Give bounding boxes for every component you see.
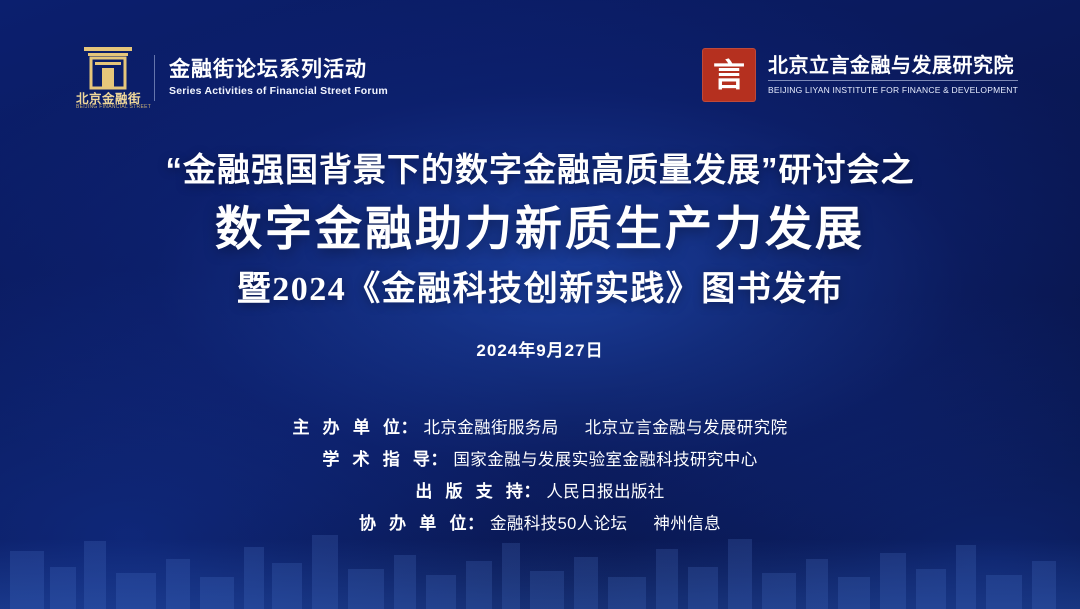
- liyan-institute-logo: 言 北京立言金融与发展研究院 BEIJING LIYAN INSTITUTE F…: [702, 48, 1018, 102]
- credit-label: 主办单位: [292, 412, 400, 444]
- title-block: “金融强国背景下的数字金融高质量发展”研讨会之 数字金融助力新质生产力发展 暨2…: [0, 148, 1080, 361]
- credit-row: 出版支持 ： 人民日报出版社: [415, 476, 664, 508]
- credit-row: 学术指导 ： 国家金融与发展实验室金融科技研究中心: [322, 444, 757, 476]
- institute-title-en: BEIJING LIYAN INSTITUTE FOR FINANCE & DE…: [768, 80, 1018, 97]
- credit-value: 北京立言金融与发展研究院: [585, 412, 788, 444]
- credit-colon: ：: [430, 444, 447, 476]
- credit-label: 学术指导: [322, 444, 430, 476]
- seal-icon: 言: [702, 48, 756, 102]
- credit-values: 人民日报出版社: [546, 476, 664, 508]
- credit-label: 出版支持: [415, 476, 523, 508]
- title-line-3: 暨2024《金融科技创新实践》图书发布: [0, 266, 1080, 314]
- gate-icon: [82, 44, 134, 90]
- institute-title-cn: 北京立言金融与发展研究院: [768, 54, 1018, 79]
- poster-header: 北京金融街 BEIJING FINANCIAL STREET 金融街论坛系列活动…: [0, 44, 1080, 114]
- credit-colon: ：: [467, 508, 484, 540]
- gate-emblem-icon: 北京金融街 BEIJING FINANCIAL STREET: [76, 44, 140, 112]
- credit-value: 神州信息: [653, 508, 721, 540]
- credit-row: 协办单位 ： 金融科技50人论坛 神州信息: [359, 508, 721, 540]
- credit-values: 国家金融与发展实验室金融科技研究中心: [453, 444, 757, 476]
- credit-colon: ：: [523, 476, 540, 508]
- bfs-mark-en: BEIJING FINANCIAL STREET: [76, 104, 140, 110]
- beijing-financial-street-logo: 北京金融街 BEIJING FINANCIAL STREET 金融街论坛系列活动…: [76, 44, 388, 112]
- credit-value: 北京金融街服务局: [423, 412, 558, 444]
- forum-title-cn: 金融街论坛系列活动: [169, 57, 388, 83]
- title-line-1: “金融强国背景下的数字金融高质量发展”研讨会之: [0, 148, 1080, 192]
- title-line-2: 数字金融助力新质生产力发展: [0, 198, 1080, 262]
- bottom-glow: [0, 539, 1080, 609]
- credit-row: 主办单位 ： 北京金融街服务局 北京立言金融与发展研究院: [292, 412, 787, 444]
- poster-canvas: 北京金融街 BEIJING FINANCIAL STREET 金融街论坛系列活动…: [0, 0, 1080, 609]
- credit-value: 金融科技50人论坛: [490, 508, 627, 540]
- credit-label: 协办单位: [359, 508, 467, 540]
- credit-values: 金融科技50人论坛 神州信息: [490, 508, 721, 540]
- institute-title-block: 北京立言金融与发展研究院 BEIJING LIYAN INSTITUTE FOR…: [768, 54, 1018, 97]
- credit-value: 人民日报出版社: [546, 476, 664, 508]
- logo-divider: [154, 55, 155, 101]
- forum-title-en: Series Activities of Financial Street Fo…: [169, 83, 388, 99]
- credit-values: 北京金融街服务局 北京立言金融与发展研究院: [423, 412, 787, 444]
- credits-block: 主办单位 ： 北京金融街服务局 北京立言金融与发展研究院 学术指导 ： 国家金融…: [0, 412, 1080, 540]
- forum-title-block: 金融街论坛系列活动 Series Activities of Financial…: [169, 57, 388, 99]
- credit-value: 国家金融与发展实验室金融科技研究中心: [453, 444, 757, 476]
- seal-character: 言: [702, 48, 756, 102]
- event-date: 2024年9月27日: [0, 336, 1080, 361]
- credit-colon: ：: [400, 412, 417, 444]
